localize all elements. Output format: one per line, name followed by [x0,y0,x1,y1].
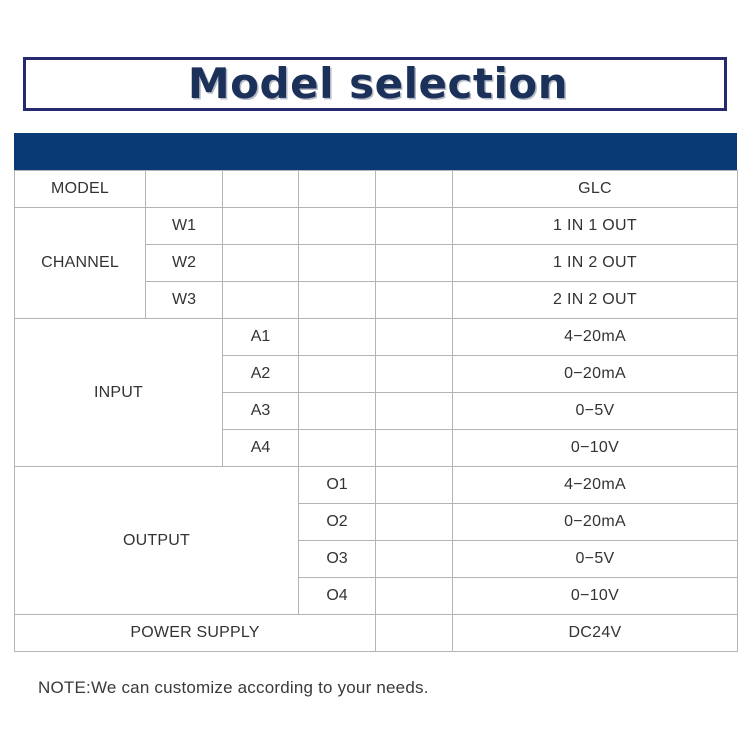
row-label-power-supply: POWER SUPPLY [15,615,376,652]
row-code-w3: W3 [146,282,223,319]
blank-cell [299,319,376,356]
blank-cell [376,504,453,541]
blank-cell [376,208,453,245]
row-value-o1: 4−20mA [453,467,738,504]
blank-cell [376,541,453,578]
row-code-w1: W1 [146,208,223,245]
row-code-o4: O4 [299,578,376,615]
row-code-a4: A4 [223,430,299,467]
row-value-w1: 1 IN 1 OUT [453,208,738,245]
row-value-o4: 0−10V [453,578,738,615]
table-row-channel-w1: CHANNEL W1 1 IN 1 OUT [15,208,738,245]
blank-cell [376,430,453,467]
row-value-a2: 0−20mA [453,356,738,393]
row-value-power-supply: DC24V [453,615,738,652]
blank-cell [146,171,223,208]
row-label-output: OUTPUT [15,467,299,615]
blank-cell [299,208,376,245]
blank-cell [376,319,453,356]
row-code-w2: W2 [146,245,223,282]
table-row-model: MODEL GLC [15,171,738,208]
row-value-model: GLC [453,171,738,208]
blank-cell [376,356,453,393]
blank-cell [299,356,376,393]
row-code-a1: A1 [223,319,299,356]
blank-cell [299,282,376,319]
row-label-model: MODEL [15,171,146,208]
row-value-w2: 1 IN 2 OUT [453,245,738,282]
blank-cell [376,282,453,319]
row-value-o3: 0−5V [453,541,738,578]
blank-cell [223,208,299,245]
table-row-output-o1: OUTPUT O1 4−20mA [15,467,738,504]
row-value-a4: 0−10V [453,430,738,467]
blank-cell [376,615,453,652]
note-text: NOTE:We can customize according to your … [38,678,429,698]
row-code-o2: O2 [299,504,376,541]
blank-cell [223,245,299,282]
row-value-o2: 0−20mA [453,504,738,541]
blank-cell [223,171,299,208]
row-code-o3: O3 [299,541,376,578]
row-code-a2: A2 [223,356,299,393]
table-row-input-a1: INPUT A1 4−20mA [15,319,738,356]
row-value-w3: 2 IN 2 OUT [453,282,738,319]
title-box: Model selection [23,57,727,111]
blank-cell [376,578,453,615]
row-value-a1: 4−20mA [453,319,738,356]
blank-cell [376,245,453,282]
blank-cell [299,171,376,208]
row-code-o1: O1 [299,467,376,504]
row-code-a3: A3 [223,393,299,430]
page-title: Model selection [26,60,730,108]
blank-cell [299,245,376,282]
blank-cell [299,430,376,467]
table-header-bar [14,133,737,170]
blank-cell [376,393,453,430]
row-value-a3: 0−5V [453,393,738,430]
row-label-channel: CHANNEL [15,208,146,319]
blank-cell [376,171,453,208]
model-selection-table: MODEL GLC CHANNEL W1 1 IN 1 OUT W2 1 IN … [14,170,738,652]
row-label-input: INPUT [15,319,223,467]
table-row-power-supply: POWER SUPPLY DC24V [15,615,738,652]
blank-cell [376,467,453,504]
blank-cell [299,393,376,430]
blank-cell [223,282,299,319]
